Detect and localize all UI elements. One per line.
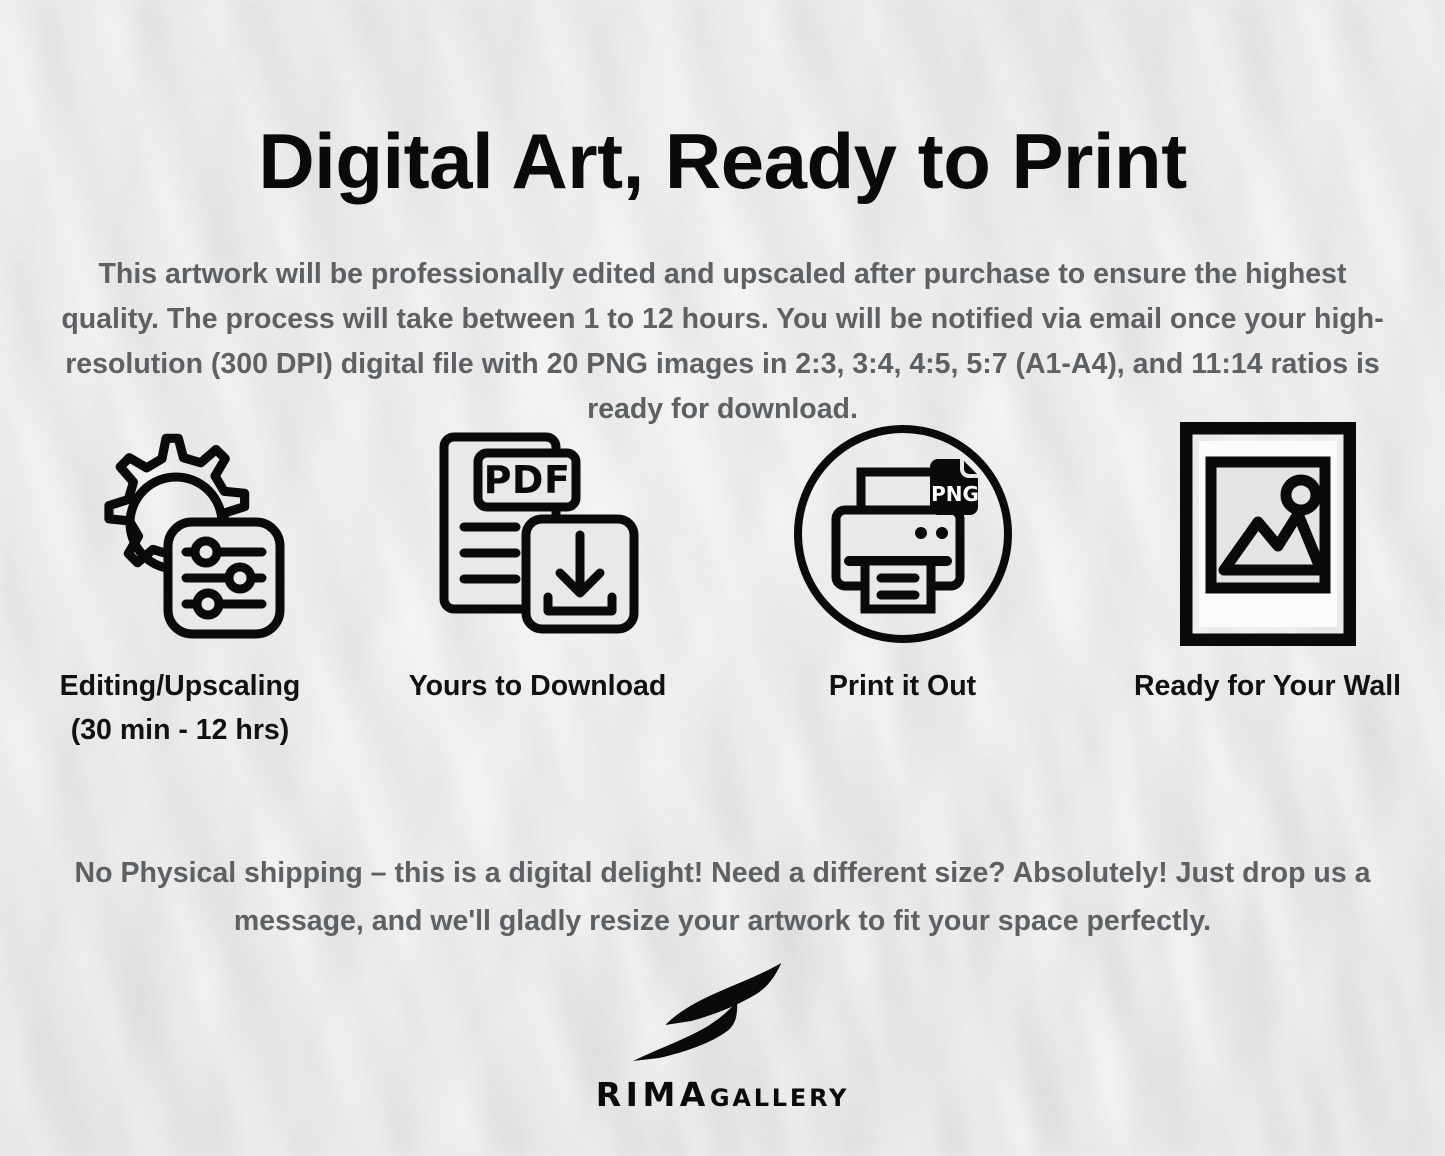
framed-picture-icon <box>1180 418 1356 650</box>
feature-wall-ready: Ready for Your Wall <box>1090 418 1445 708</box>
feature-label: Print it Out <box>829 664 976 708</box>
brand-wordmark: RIMA GALLERY <box>596 1075 849 1114</box>
pdf-badge-text: PDF <box>484 458 571 502</box>
feature-label: Ready for Your Wall <box>1134 664 1401 708</box>
brand-name-primary: RIMA <box>596 1075 710 1114</box>
feature-label: Editing/Upscaling (30 min - 12 hrs) <box>60 664 301 752</box>
gear-sliders-icon <box>64 418 296 650</box>
feature-download: PDF Yours to Download <box>360 418 715 708</box>
brand-logo: RIMA GALLERY <box>596 955 849 1114</box>
page-title: Digital Art, Ready to Print <box>0 122 1445 200</box>
png-badge-text: PNG <box>931 482 979 506</box>
brand-name-secondary: GALLERY <box>710 1084 849 1112</box>
pdf-download-icon: PDF <box>430 418 645 650</box>
intro-paragraph: This artwork will be professionally edit… <box>54 252 1392 432</box>
printer-circle-icon: PNG <box>790 418 1016 650</box>
outro-paragraph: No Physical shipping – this is a digital… <box>48 849 1398 945</box>
promo-banner: Digital Art, Ready to Print This artwork… <box>0 0 1445 1156</box>
rima-swoosh-mark <box>607 955 837 1073</box>
feature-row: Editing/Upscaling (30 min - 12 hrs) PDF <box>0 418 1445 752</box>
feature-label: Yours to Download <box>409 664 667 708</box>
feature-editing-upscaling: Editing/Upscaling (30 min - 12 hrs) <box>0 418 360 752</box>
feature-print: PNG Print it Out <box>715 418 1090 708</box>
